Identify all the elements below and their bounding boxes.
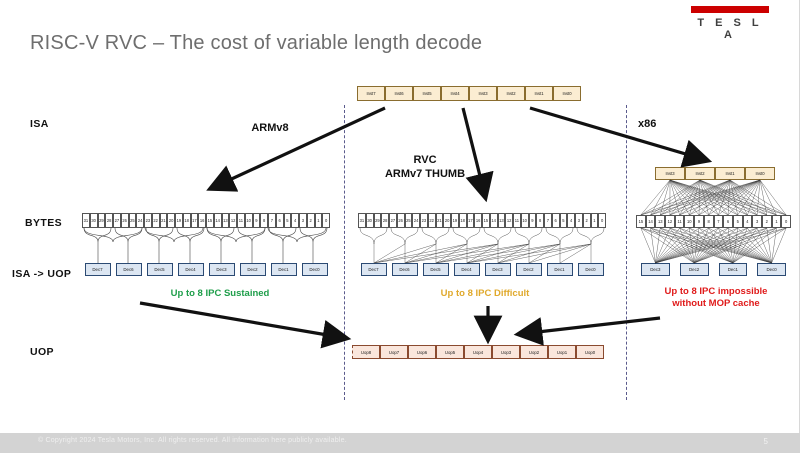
rvc-byte-row-cell: 15 xyxy=(482,213,490,228)
rvc-byte-row-cell: 2 xyxy=(583,213,591,228)
armv8-byte-row-cell: 17 xyxy=(191,213,199,228)
armv8-byte-row-cell: 4 xyxy=(291,213,299,228)
armv8-decoder-row-cell: Dec0 xyxy=(302,263,328,276)
armv8-byte-row-cell: 2 xyxy=(307,213,315,228)
rvc-byte-row: 3130292827262524232221201918171615141312… xyxy=(358,213,606,228)
top-instruction-stream: Inst7Inst6Inst5Inst4Inst3Inst2Inst1Inst0 xyxy=(357,86,581,101)
armv8-byte-row-cell: 26 xyxy=(121,213,129,228)
rvc-decoder-row: Dec7Dec6Dec5Dec4Dec3Dec2Dec1Dec0 xyxy=(358,263,606,276)
rvc-byte-row-cell: 26 xyxy=(397,213,405,228)
armv8-byte-row-cell: 20 xyxy=(167,213,175,228)
rvc-byte-row-cell: 28 xyxy=(381,213,389,228)
rvc-byte-row-cell: 3 xyxy=(575,213,583,228)
caption-armv8-ipc: Up to 8 IPC Sustained xyxy=(115,288,325,300)
armv8-byte-row-cell: 1 xyxy=(315,213,323,228)
rvc-decoder-row-cell: Dec6 xyxy=(392,263,418,276)
top-instruction-stream-cell: Inst7 xyxy=(357,86,385,101)
rvc-byte-row-cell: 6 xyxy=(552,213,560,228)
armv8-byte-row-cell: 16 xyxy=(198,213,206,228)
x86-byte-row-cell: 5 xyxy=(733,215,743,228)
x86-byte-row-cell: 10 xyxy=(684,215,694,228)
column-header-rvc-line1: RVC xyxy=(355,153,495,167)
tesla-red-bar xyxy=(691,6,769,13)
rvc-byte-row-cell: 27 xyxy=(389,213,397,228)
x86-instruction-stream-cell: Inst1 xyxy=(715,167,745,180)
armv8-byte-row-cell: 7 xyxy=(268,213,276,228)
rvc-byte-row-cell: 31 xyxy=(358,213,366,228)
uop-row-cell: Uop4 xyxy=(464,345,492,359)
armv8-byte-row-cell: 19 xyxy=(175,213,183,228)
armv8-byte-row-cell: 18 xyxy=(183,213,191,228)
uop-row-cell: Uop8 xyxy=(352,345,380,359)
rvc-decoder-row-cell: Dec1 xyxy=(547,263,573,276)
top-instruction-stream-cell: Inst1 xyxy=(525,86,553,101)
rvc-byte-row-cell: 29 xyxy=(374,213,382,228)
armv8-byte-row-cell: 27 xyxy=(113,213,121,228)
armv8-byte-row-cell: 8 xyxy=(260,213,268,228)
column-separator-right xyxy=(626,105,627,400)
caption-rvc-ipc: Up to 8 IPC Difficult xyxy=(390,288,580,300)
x86-byte-row-cell: 1 xyxy=(772,215,782,228)
x86-byte-row-cell: 4 xyxy=(743,215,753,228)
armv8-byte-row-cell: 15 xyxy=(206,213,214,228)
x86-decoder-row-cell: Dec1 xyxy=(719,263,748,276)
armv8-byte-row-cell: 12 xyxy=(229,213,237,228)
x86-byte-row-cell: 12 xyxy=(665,215,675,228)
uop-row-cell: Uop0 xyxy=(576,345,604,359)
rvc-decoder-row-cell: Dec2 xyxy=(516,263,542,276)
x86-byte-row-cell: 3 xyxy=(752,215,762,228)
top-instruction-stream-cell: Inst0 xyxy=(553,86,581,101)
rvc-byte-row-cell: 8 xyxy=(536,213,544,228)
armv8-byte-row-cell: 10 xyxy=(245,213,253,228)
armv8-byte-row-cell: 5 xyxy=(284,213,292,228)
armv8-decoder-row: Dec7Dec6Dec5Dec4Dec3Dec2Dec1Dec0 xyxy=(82,263,330,276)
rvc-byte-row-cell: 24 xyxy=(412,213,420,228)
uop-row: Uop8Uop7Uop6Uop5Uop4Uop3Uop2Uop1Uop0 xyxy=(352,345,604,359)
armv8-decoder-row-cell: Dec7 xyxy=(85,263,111,276)
rvc-byte-row-cell: 10 xyxy=(521,213,529,228)
tesla-wordmark: T E S L A xyxy=(690,17,770,41)
armv8-byte-row-cell: 25 xyxy=(129,213,137,228)
uop-row-cell: Uop3 xyxy=(492,345,520,359)
uop-row-cell: Uop6 xyxy=(408,345,436,359)
row-label-uop: UOP xyxy=(30,346,54,358)
armv8-byte-row-cell: 3 xyxy=(299,213,307,228)
rvc-decoder-row-cell: Dec3 xyxy=(485,263,511,276)
footer-page-number: 5 xyxy=(764,437,768,446)
rvc-byte-row-cell: 19 xyxy=(451,213,459,228)
rvc-decoder-row-cell: Dec5 xyxy=(423,263,449,276)
top-instruction-stream-cell: Inst6 xyxy=(385,86,413,101)
rvc-byte-row-cell: 5 xyxy=(560,213,568,228)
x86-byte-row-cell: 15 xyxy=(636,215,646,228)
armv8-byte-row-cell: 22 xyxy=(152,213,160,228)
row-label-isa: ISA xyxy=(30,118,49,130)
column-header-rvc: RVC ARMv7 THUMB xyxy=(355,153,495,181)
x86-byte-row: 1514131211109876543210 xyxy=(636,215,791,228)
x86-decoder-row-cell: Dec0 xyxy=(757,263,786,276)
uop-row-cell: Uop2 xyxy=(520,345,548,359)
row-label-bytes: BYTES xyxy=(25,217,62,229)
armv8-byte-row-cell: 31 xyxy=(82,213,90,228)
x86-byte-row-cell: 14 xyxy=(646,215,656,228)
rvc-decoder-row-cell: Dec7 xyxy=(361,263,387,276)
armv8-byte-row-cell: 21 xyxy=(160,213,168,228)
top-instruction-stream-cell: Inst4 xyxy=(441,86,469,101)
armv8-decoder-row-cell: Dec2 xyxy=(240,263,266,276)
x86-instruction-stream-cell: Inst3 xyxy=(655,167,685,180)
uop-row-cell: Uop7 xyxy=(380,345,408,359)
armv8-decoder-row-cell: Dec1 xyxy=(271,263,297,276)
armv8-byte-row-cell: 30 xyxy=(90,213,98,228)
armv8-byte-row-cell: 14 xyxy=(214,213,222,228)
x86-byte-row-cell: 2 xyxy=(762,215,772,228)
armv8-decoder-row-cell: Dec6 xyxy=(116,263,142,276)
rvc-byte-row-cell: 21 xyxy=(436,213,444,228)
armv8-byte-row-cell: 9 xyxy=(253,213,261,228)
uop-row-cell: Uop5 xyxy=(436,345,464,359)
armv8-decoder-row-cell: Dec5 xyxy=(147,263,173,276)
uop-convergence-arrows xyxy=(140,303,660,338)
rvc-byte-row-cell: 1 xyxy=(591,213,599,228)
rvc-decode-links xyxy=(360,228,604,263)
caption-x86-ipc-line2: without MOP cache xyxy=(636,298,796,310)
rvc-byte-row-cell: 11 xyxy=(513,213,521,228)
armv8-byte-row-cell: 24 xyxy=(136,213,144,228)
x86-instruction-stream: Inst3Inst2Inst1Inst0 xyxy=(655,167,775,180)
x86-byte-row-cell: 11 xyxy=(675,215,685,228)
x86-instruction-stream-cell: Inst0 xyxy=(745,167,775,180)
armv8-byte-row: 3130292827262524232221201918171615141312… xyxy=(82,213,330,228)
column-separator-left xyxy=(344,105,345,400)
rvc-decoder-row-cell: Dec4 xyxy=(454,263,480,276)
armv8-byte-row-cell: 23 xyxy=(144,213,152,228)
armv8-byte-row-cell: 11 xyxy=(237,213,245,228)
armv8-byte-row-cell: 6 xyxy=(276,213,284,228)
row-label-isa-to-uop: ISA -> UOP xyxy=(12,268,71,280)
x86-byte-row-cell: 6 xyxy=(723,215,733,228)
column-header-armv8: ARMv8 xyxy=(210,122,330,134)
x86-decoder-row-cell: Dec2 xyxy=(680,263,709,276)
rvc-byte-row-cell: 30 xyxy=(366,213,374,228)
page-title: RISC-V RVC – The cost of variable length… xyxy=(30,32,482,55)
rvc-byte-row-cell: 18 xyxy=(459,213,467,228)
rvc-byte-row-cell: 17 xyxy=(467,213,475,228)
rvc-byte-row-cell: 12 xyxy=(505,213,513,228)
rvc-byte-row-cell: 7 xyxy=(544,213,552,228)
rvc-byte-row-cell: 9 xyxy=(529,213,537,228)
rvc-byte-row-cell: 13 xyxy=(498,213,506,228)
uop-row-cell: Uop1 xyxy=(548,345,576,359)
x86-byte-row-cell: 13 xyxy=(655,215,665,228)
armv8-byte-row-cell: 29 xyxy=(98,213,106,228)
x86-byte-row-cell: 9 xyxy=(694,215,704,228)
rvc-byte-row-cell: 0 xyxy=(598,213,606,228)
rvc-byte-row-cell: 14 xyxy=(490,213,498,228)
x86-decoder-row-cell: Dec3 xyxy=(641,263,670,276)
armv8-byte-row-cell: 28 xyxy=(105,213,113,228)
rvc-decoder-row-cell: Dec0 xyxy=(578,263,604,276)
rvc-byte-row-cell: 16 xyxy=(474,213,482,228)
footer-copyright: © Copyright 2024 Tesla Motors, Inc. All … xyxy=(38,437,347,444)
caption-x86-ipc-line1: Up to 8 IPC impossible xyxy=(636,286,796,298)
armv8-decode-links xyxy=(84,228,327,263)
armv8-byte-row-cell: 13 xyxy=(222,213,230,228)
top-instruction-stream-cell: Inst5 xyxy=(413,86,441,101)
rvc-byte-row-cell: 20 xyxy=(443,213,451,228)
rvc-byte-row-cell: 25 xyxy=(405,213,413,228)
armv8-decoder-row-cell: Dec4 xyxy=(178,263,204,276)
armv8-byte-row-cell: 0 xyxy=(322,213,330,228)
slide-footer: © Copyright 2024 Tesla Motors, Inc. All … xyxy=(0,433,800,453)
rvc-byte-row-cell: 22 xyxy=(428,213,436,228)
rvc-byte-row-cell: 23 xyxy=(420,213,428,228)
x86-decoder-row: Dec3Dec2Dec1Dec0 xyxy=(636,263,791,276)
column-header-x86: x86 xyxy=(638,118,698,130)
column-header-rvc-line2: ARMv7 THUMB xyxy=(355,167,495,181)
slide-canvas: T E S L A RISC-V RVC – The cost of varia… xyxy=(0,0,800,453)
rvc-byte-row-cell: 4 xyxy=(567,213,575,228)
caption-x86-ipc: Up to 8 IPC impossible without MOP cache xyxy=(636,286,796,310)
x86-byte-row-cell: 7 xyxy=(714,215,724,228)
armv8-decoder-row-cell: Dec3 xyxy=(209,263,235,276)
top-instruction-stream-cell: Inst2 xyxy=(497,86,525,101)
x86-byte-row-cell: 8 xyxy=(704,215,714,228)
x86-instruction-stream-cell: Inst2 xyxy=(685,167,715,180)
top-instruction-stream-cell: Inst3 xyxy=(469,86,497,101)
x86-byte-row-cell: 0 xyxy=(781,215,791,228)
